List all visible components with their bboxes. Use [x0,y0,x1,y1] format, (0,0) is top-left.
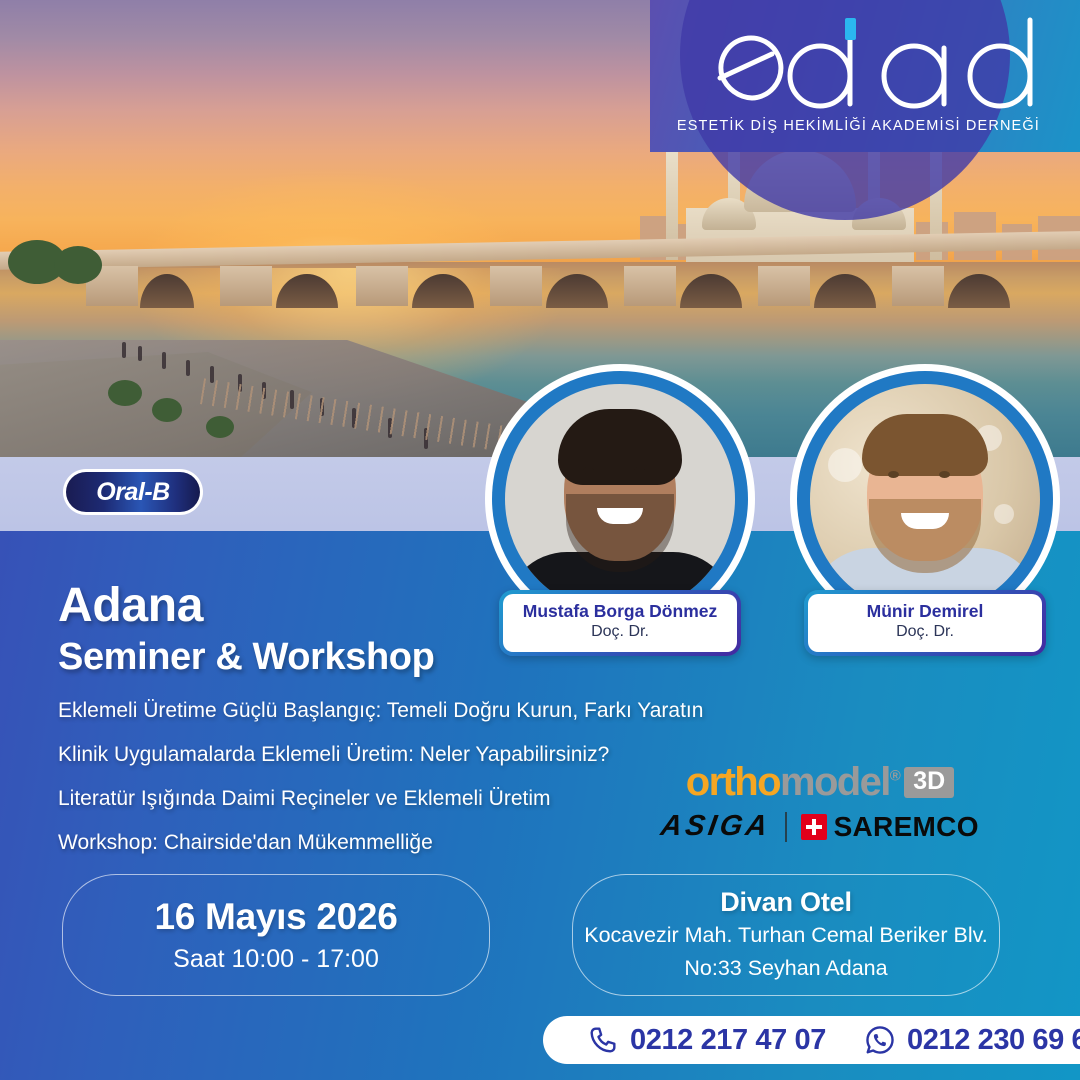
edad-logo-mark [702,14,1042,120]
oral-b-label: Oral-B [96,478,169,507]
venue-address-line-1: Kocavezir Mah. Turhan Cemal Beriker Blv. [584,921,987,951]
event-city-title: Adana [58,578,203,633]
topic-list: Eklemeli Üretime Güçlü Başlangıç: Temeli… [58,700,758,876]
whatsapp-icon [864,1024,896,1056]
swiss-flag-icon [801,814,827,840]
event-poster: ESTETİK DİŞ HEKİMLİĞİ AKADEMİSİ DERNEĞİ … [0,0,1080,1080]
sponsor-logos: orthomodel®3D ASIGA SAREMCO [660,762,980,843]
date-time-box: 16 Mayıs 2026 Saat 10:00 - 17:00 [62,874,490,996]
topic-item: Eklemeli Üretime Güçlü Başlangıç: Temeli… [58,700,758,721]
registered-trademark-icon: ® [890,768,899,785]
speaker-name-1: Mustafa Borga Dönmez [509,601,731,621]
speaker-name-2: Münir Demirel [814,601,1036,621]
venue-box: Divan Otel Kocavezir Mah. Turhan Cemal B… [572,874,1000,996]
speaker-portrait-2 [810,384,1040,614]
asiga-logo: ASIGA [659,810,774,843]
orthomodel-logo: orthomodel®3D [660,762,980,802]
event-date: 16 Mayıs 2026 [155,896,398,938]
topic-item: Literatür Işığında Daimi Reçineler ve Ek… [58,788,758,809]
speaker-nameplate-1: Mustafa Borga Dönmez Doç. Dr. [499,590,741,656]
speaker-card-2: Münir Demirel Doç. Dr. [790,364,1060,634]
speaker-title-1: Doç. Dr. [509,622,731,643]
speaker-title-2: Doç. Dr. [814,622,1036,643]
speaker-card-1: Mustafa Borga Dönmez Doç. Dr. [485,364,755,634]
speaker-portrait-1 [505,384,735,614]
event-time: Saat 10:00 - 17:00 [173,945,379,974]
oral-b-logo: Oral-B [63,469,203,515]
phone-number: 0212 217 47 07 [630,1024,826,1057]
event-subtitle: Seminer & Workshop [58,636,434,679]
speaker-nameplate-2: Münir Demirel Doç. Dr. [804,590,1046,656]
whatsapp-contact[interactable]: 0212 230 69 67 [864,1024,1080,1057]
edad-logo: ESTETİK DİŞ HEKİMLİĞİ AKADEMİSİ DERNEĞİ [702,14,1042,138]
venue-address-line-2: No:33 Seyhan Adana [684,954,887,984]
orthomodel-ortho: ortho [686,760,780,804]
contact-bar: 0212 217 47 07 0212 230 69 67 [543,1016,1080,1064]
edad-logo-subtitle: ESTETİK DİŞ HEKİMLİĞİ AKADEMİSİ DERNEĞİ [677,118,1040,134]
whatsapp-number: 0212 230 69 67 [907,1024,1080,1057]
orthomodel-model: model [780,760,890,804]
topic-item: Klinik Uygulamalarda Eklemeli Üretim: Ne… [58,744,758,765]
stone-bridge [0,252,1080,304]
venue-name: Divan Otel [720,887,852,918]
topic-item: Workshop: Chairside'dan Mükemmelliğe [58,832,758,853]
phone-icon [587,1024,619,1056]
phone-contact[interactable]: 0212 217 47 07 [587,1024,826,1057]
logo-divider [785,812,787,842]
orthomodel-3d-badge: 3D [904,767,954,798]
saremco-logo: SAREMCO [801,811,979,843]
saremco-label: SAREMCO [834,811,979,843]
